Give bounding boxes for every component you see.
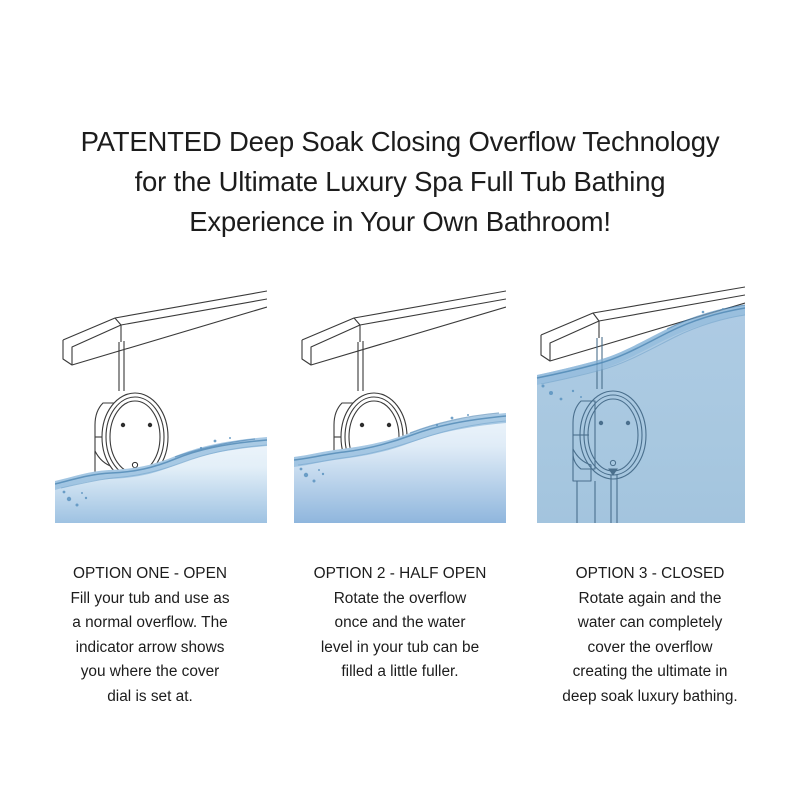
caption-line: you where the cover (30, 660, 270, 685)
caption-line: Rotate the overflow (280, 587, 520, 612)
caption-option-two: OPTION 2 - HALF OPEN Rotate the overflow… (280, 562, 520, 709)
caption-line: a normal overflow. The (30, 611, 270, 636)
caption-line: filled a little fuller. (280, 660, 520, 685)
caption-line: once and the water (280, 611, 520, 636)
caption-line: creating the ultimate in (530, 660, 770, 685)
illustration-panel-open (55, 285, 267, 523)
caption-option-one: OPTION ONE - OPEN Fill your tub and use … (30, 562, 270, 709)
caption-line: Rotate again and the (530, 587, 770, 612)
caption-title-option-three: OPTION 3 - CLOSED (530, 562, 770, 587)
caption-line: water can completely (530, 611, 770, 636)
page-title: PATENTED Deep Soak Closing Overflow Tech… (0, 122, 800, 242)
caption-line: level in your tub can be (280, 636, 520, 661)
caption-title-option-one: OPTION ONE - OPEN (30, 562, 270, 587)
illustration-panel-half-open (294, 285, 506, 523)
caption-option-three: OPTION 3 - CLOSED Rotate again and the w… (530, 562, 770, 709)
caption-line: indicator arrow shows (30, 636, 270, 661)
caption-line: Fill your tub and use as (30, 587, 270, 612)
caption-line: cover the overflow (530, 636, 770, 661)
page-title-line-3: Experience in Your Own Bathroom! (0, 202, 800, 242)
caption-line: dial is set at. (30, 685, 270, 710)
caption-row: OPTION ONE - OPEN Fill your tub and use … (30, 562, 770, 709)
caption-body-option-three: Rotate again and the water can completel… (530, 587, 770, 710)
illustration-panel-closed (533, 285, 745, 523)
caption-body-option-one: Fill your tub and use as a normal overfl… (30, 587, 270, 710)
page-title-line-1: PATENTED Deep Soak Closing Overflow Tech… (0, 122, 800, 162)
caption-line: deep soak luxury bathing. (530, 685, 770, 710)
illustration-panel-row (55, 285, 745, 523)
page-title-line-2: for the Ultimate Luxury Spa Full Tub Bat… (0, 162, 800, 202)
product-infographic: PATENTED Deep Soak Closing Overflow Tech… (0, 0, 800, 800)
caption-body-option-two: Rotate the overflow once and the water l… (280, 587, 520, 685)
caption-title-option-two: OPTION 2 - HALF OPEN (280, 562, 520, 587)
